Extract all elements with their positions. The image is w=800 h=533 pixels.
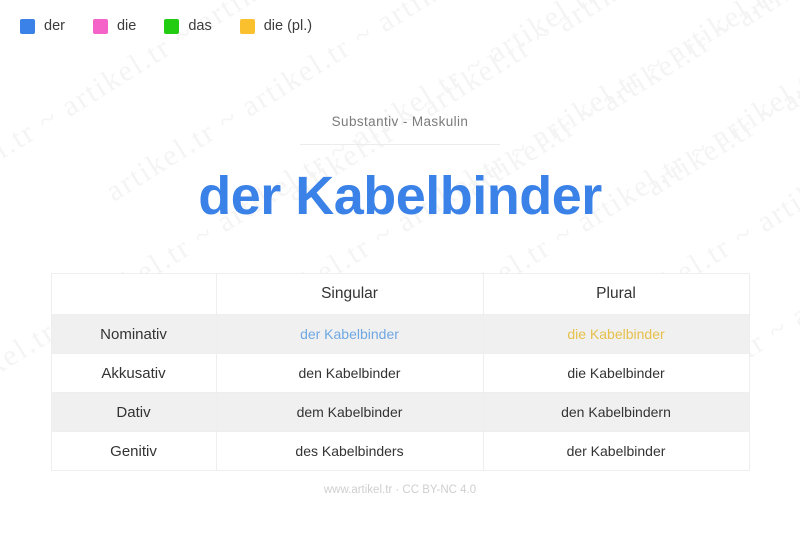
- word-type-subtitle: Substantiv - Maskulin: [0, 114, 800, 129]
- case-label-akkusativ: Akkusativ: [51, 354, 216, 393]
- legend-label-das: das: [188, 18, 211, 34]
- article-color-legend: der die das die (pl.): [0, 0, 800, 52]
- cell-akkusativ-singular: den Kabelbinder: [216, 354, 483, 393]
- cell-akkusativ-plural: die Kabelbinder: [483, 354, 749, 393]
- legend-label-die: die: [117, 18, 136, 34]
- table-header-singular: Singular: [216, 274, 483, 315]
- legend-label-die-plural: die (pl.): [264, 18, 312, 34]
- table-header-row: Singular Plural: [51, 274, 749, 315]
- page-title: der Kabelbinder: [0, 167, 800, 226]
- table-row: Akkusativ den Kabelbinder die Kabelbinde…: [51, 354, 749, 393]
- legend-item-die-plural: die (pl.): [240, 18, 312, 34]
- case-label-nominativ: Nominativ: [51, 315, 216, 354]
- table-row: Genitiv des Kabelbinders der Kabelbinder: [51, 432, 749, 471]
- case-label-genitiv: Genitiv: [51, 432, 216, 471]
- cell-dativ-plural: den Kabelbindern: [483, 393, 749, 432]
- color-swatch-pink-icon: [93, 19, 108, 34]
- cell-nominativ-singular: der Kabelbinder: [216, 315, 483, 354]
- cell-genitiv-singular: des Kabelbinders: [216, 432, 483, 471]
- noun-declension-card: Substantiv - Maskulin der Kabelbinder Si…: [0, 52, 800, 496]
- case-label-dativ: Dativ: [51, 393, 216, 432]
- color-swatch-yellow-icon: [240, 19, 255, 34]
- cell-genitiv-plural: der Kabelbinder: [483, 432, 749, 471]
- table-row: Dativ dem Kabelbinder den Kabelbindern: [51, 393, 749, 432]
- legend-label-der: der: [44, 18, 65, 34]
- footer-attribution: www.artikel.tr · CC BY-NC 4.0: [0, 484, 800, 496]
- cell-dativ-singular: dem Kabelbinder: [216, 393, 483, 432]
- table-header-case: [51, 274, 216, 315]
- color-swatch-green-icon: [164, 19, 179, 34]
- cell-nominativ-plural: die Kabelbinder: [483, 315, 749, 354]
- legend-item-das: das: [164, 18, 211, 34]
- declension-table: Singular Plural Nominativ der Kabelbinde…: [51, 273, 750, 471]
- table-header-plural: Plural: [483, 274, 749, 315]
- table-row: Nominativ der Kabelbinder die Kabelbinde…: [51, 315, 749, 354]
- color-swatch-blue-icon: [20, 19, 35, 34]
- subtitle-divider: [300, 144, 500, 145]
- legend-item-die: die: [93, 18, 136, 34]
- legend-item-der: der: [20, 18, 65, 34]
